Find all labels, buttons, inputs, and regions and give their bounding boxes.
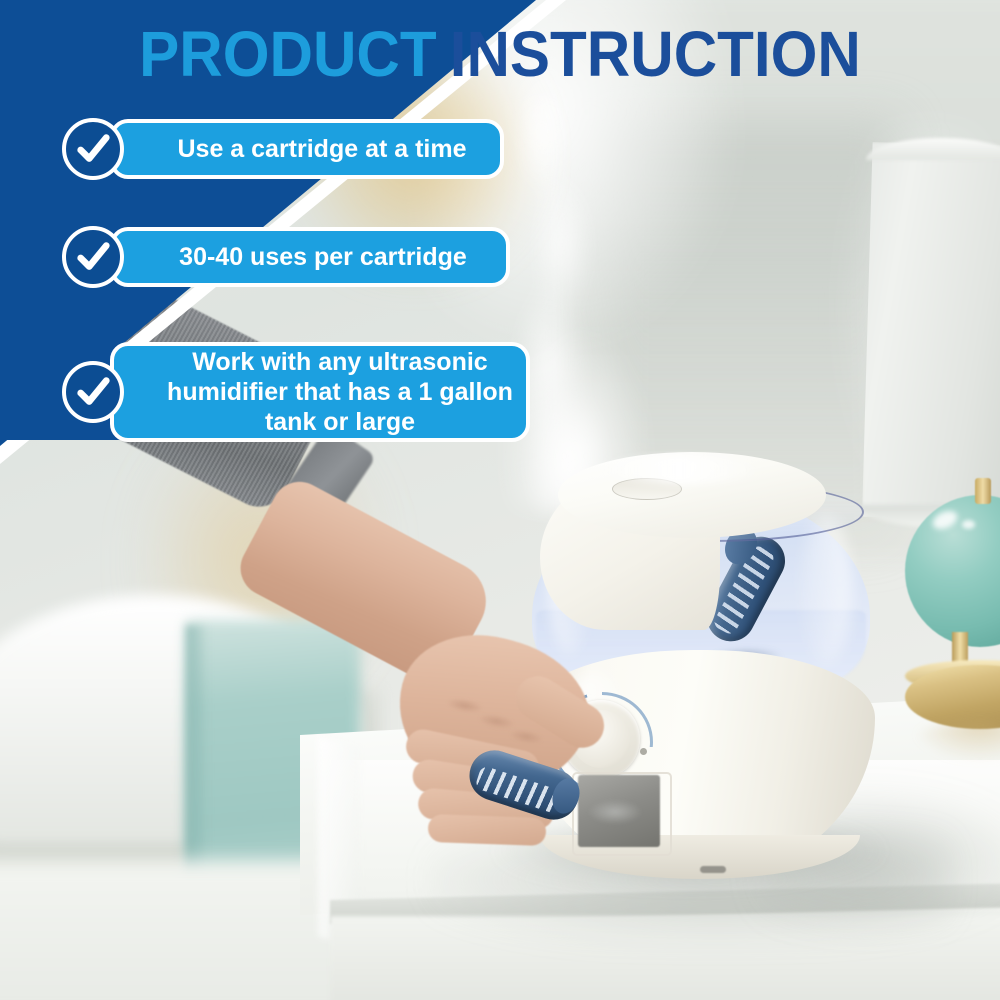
- instruction-label-3-line-2: humidifier that has a 1 gallon: [167, 377, 513, 407]
- infographic-canvas: PRODUCTINSTRUCTION Use a cartridge at a …: [0, 0, 1000, 1000]
- instruction-item-3[interactable]: Work with any ultrasonic humidifier that…: [62, 342, 530, 442]
- instruction-label-3-line-3: tank or large: [167, 407, 513, 437]
- instruction-label-3: Work with any ultrasonic humidifier that…: [110, 342, 530, 442]
- check-icon: [62, 226, 124, 288]
- instruction-label-3-line-1: Work with any ultrasonic: [167, 347, 513, 377]
- instruction-item-1[interactable]: Use a cartridge at a time: [62, 118, 504, 180]
- instruction-label-2: 30-40 uses per cartridge: [110, 227, 510, 287]
- instruction-label-1: Use a cartridge at a time: [110, 119, 504, 179]
- instruction-list: Use a cartridge at a time 30-40 uses per…: [0, 0, 1000, 1000]
- check-icon: [62, 361, 124, 423]
- instruction-item-2[interactable]: 30-40 uses per cartridge: [62, 226, 510, 288]
- check-icon: [62, 118, 124, 180]
